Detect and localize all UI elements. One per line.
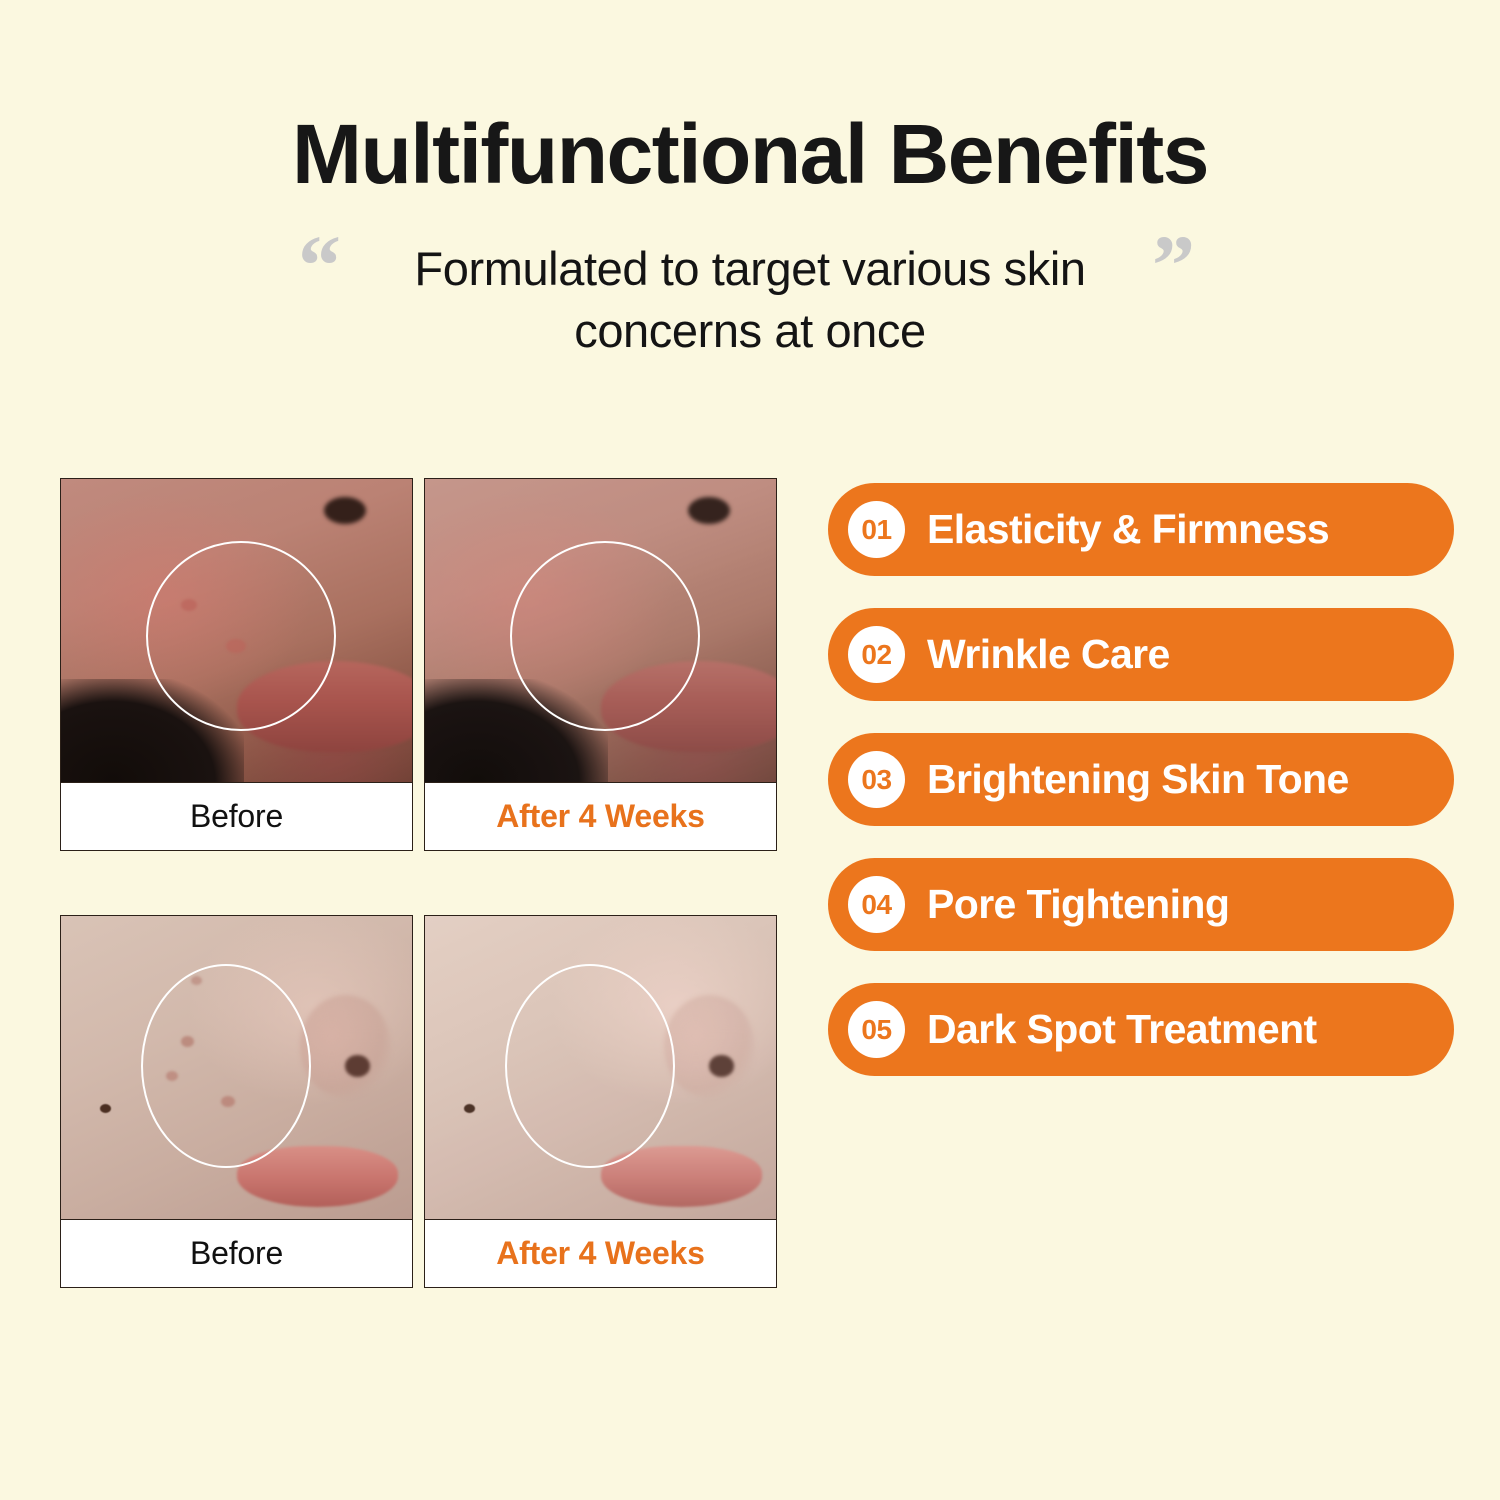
page-title: Multifunctional Benefits [0,108,1500,200]
nostril-detail [709,1055,734,1076]
after-photo-2 [424,915,777,1220]
blemish [166,1071,178,1081]
blemish [181,599,197,611]
lip-detail [601,1146,762,1207]
benefit-label: Pore Tightening [927,881,1229,928]
comparison-row-2: Before After 4 Weeks [60,915,787,1288]
benefit-label: Brightening Skin Tone [927,756,1349,803]
blemish [181,1036,194,1047]
skin-image [61,479,412,782]
nostril-detail [324,497,366,524]
comparison-card-after-1: After 4 Weeks [424,478,777,851]
nostril-detail [688,497,730,524]
benefit-number-badge: 05 [848,1001,905,1058]
skin-image [61,916,412,1219]
blemish [226,639,246,653]
benefit-label: Elasticity & Firmness [927,506,1329,553]
after-photo-1 [424,478,777,783]
benefit-item-01[interactable]: 01 Elasticity & Firmness [828,483,1454,576]
before-caption-1: Before [60,783,413,851]
comparison-card-before-2: Before [60,915,413,1288]
blemish [191,976,202,985]
comparison-card-after-2: After 4 Weeks [424,915,777,1288]
mole-detail [100,1104,111,1113]
benefit-item-02[interactable]: 02 Wrinkle Care [828,608,1454,701]
before-photo-2 [60,915,413,1220]
benefit-number-badge: 03 [848,751,905,808]
subtitle-block: Formulated to target various skin concer… [0,238,1500,362]
header-section: Multifunctional Benefits “ ” Formulated … [0,0,1500,420]
benefit-number-badge: 04 [848,876,905,933]
skin-image [425,479,776,782]
after-caption-2: After 4 Weeks [424,1220,777,1288]
nose-detail [664,995,755,1098]
benefit-label: Dark Spot Treatment [927,1006,1317,1053]
before-caption-2: Before [60,1220,413,1288]
benefit-item-04[interactable]: 04 Pore Tightening [828,858,1454,951]
benefit-label: Wrinkle Care [927,631,1170,678]
lip-detail [237,1146,398,1207]
mole-detail [464,1104,475,1113]
benefits-list: 01 Elasticity & Firmness 02 Wrinkle Care… [828,483,1454,1076]
before-photo-1 [60,478,413,783]
comparison-card-before-1: Before [60,478,413,851]
before-after-grid: Before After 4 Weeks [60,478,787,1288]
after-caption-1: After 4 Weeks [424,783,777,851]
benefit-number-badge: 02 [848,626,905,683]
benefit-item-03[interactable]: 03 Brightening Skin Tone [828,733,1454,826]
page-subtitle: Formulated to target various skin concer… [340,238,1160,362]
benefit-number-badge: 01 [848,501,905,558]
skin-image [425,916,776,1219]
lip-detail [601,661,778,752]
nose-detail [300,995,391,1098]
nostril-detail [345,1055,370,1076]
benefit-item-05[interactable]: 05 Dark Spot Treatment [828,983,1454,1076]
comparison-row-1: Before After 4 Weeks [60,478,787,851]
lip-detail [237,661,414,752]
blemish [221,1096,235,1107]
